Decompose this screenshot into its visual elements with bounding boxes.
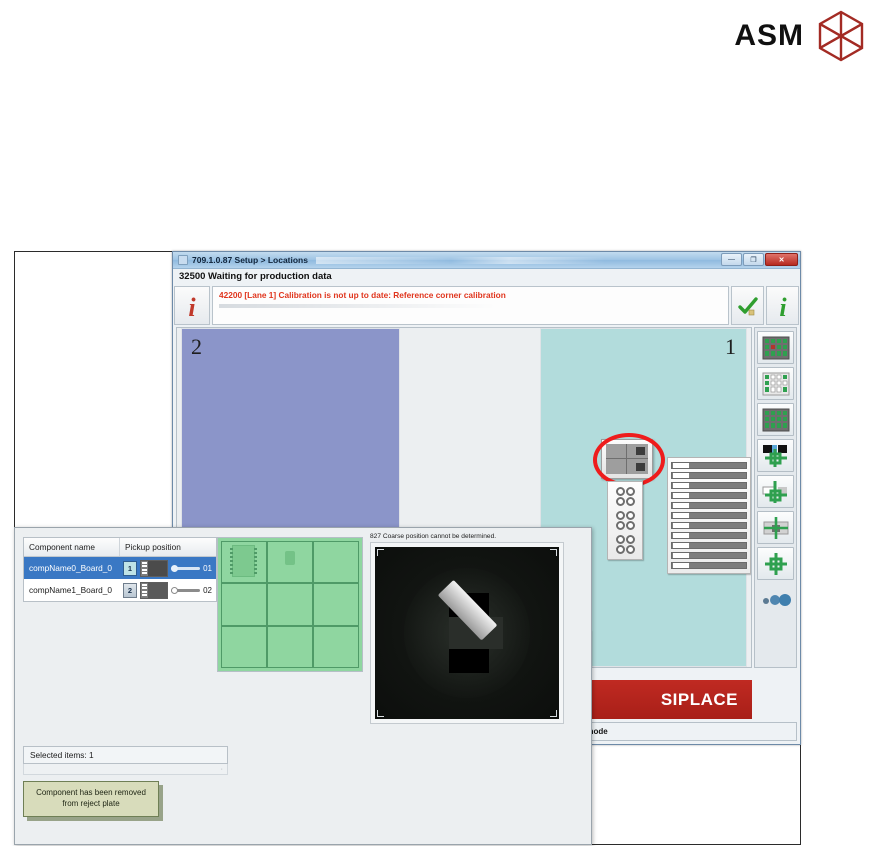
marker-corner-br [550,710,557,717]
feeder-bank-right[interactable] [667,457,751,574]
cell-component-name: compName1_Board_0 [24,585,120,595]
position-line [171,589,200,592]
svg-text:i: i [779,293,787,320]
column-header-component-name[interactable]: Component name [24,538,120,556]
grid-cell[interactable] [314,584,358,624]
alert-message-box: 42200 [Lane 1] Calibration is not up to … [212,286,729,325]
position-knob [171,587,178,594]
component-table-icon [762,336,790,360]
window-titlebar[interactable]: 709.1.0.87 Setup > Locations — ❐ ✕ [173,252,800,269]
component-chip [232,545,255,576]
alert-message-text: 42200 [Lane 1] Calibration is not up to … [219,290,722,300]
nozzle-rack-right[interactable] [607,481,643,560]
feeder-slot [671,562,747,569]
asm-brand-logo: ASM [734,10,866,62]
table-row[interactable]: compName0_Board_0 1 01 [24,557,216,579]
camera-image [375,547,559,719]
nozzle-dots-icon [760,592,792,608]
image-caption: 827 Coarse position cannot be determined… [370,533,570,540]
toolbar-head-left-button[interactable] [757,439,794,472]
grid-cell[interactable] [222,584,266,624]
toolbar-head-right-button[interactable] [757,475,794,508]
toolbar-nozzle-table-button[interactable] [757,403,794,436]
green-check-icon [737,296,759,316]
reject-chip [636,447,645,455]
toolbar-component-table-button[interactable] [757,331,794,364]
position-label: 02 [203,586,212,595]
reject-chip [636,463,645,471]
grid-cell[interactable] [314,542,358,582]
close-button[interactable]: ✕ [765,253,798,266]
component-table[interactable]: Component name Pickup position compName0… [23,537,217,602]
pickup-badge: 1 [123,561,137,576]
reject-plate-grid [606,444,648,474]
crosshair-head-left-icon [761,443,791,469]
pickup-badge: 2 [123,583,137,598]
cell-pickup-position: 2 02 [120,582,216,599]
zone-left-label: 2 [191,334,202,360]
column-header-pickup-position[interactable]: Pickup position [120,538,216,556]
toolbar-crosshair-button[interactable] [757,547,794,580]
alert-info-button[interactable]: i [766,286,799,325]
window-controls[interactable]: — ❐ ✕ [721,253,798,266]
svg-text:i: i [188,293,196,320]
reject-grid [221,541,359,668]
feeder-slot [671,512,747,519]
reject-plate-grid-panel[interactable] [217,537,363,672]
crosshair-icon [761,551,791,577]
feeder-slot [671,472,747,479]
production-status-line: 32500 Waiting for production data [173,269,800,286]
feeder-slot [671,462,747,469]
reject-plate[interactable] [601,439,653,479]
grid-cell[interactable] [314,627,358,667]
toast-notification: Component has been removed from reject p… [23,781,159,817]
alert-info-icon-box[interactable]: i [174,286,210,325]
zone-right-label: 1 [725,334,736,360]
grid-cell[interactable] [222,542,266,582]
marker-corner-tl [377,549,384,556]
feeder-table-icon [762,372,790,396]
maximize-button[interactable]: ❐ [743,253,764,266]
selected-items-underbar: · [23,764,228,775]
position-label: 01 [203,564,212,573]
feeder-slot [671,482,747,489]
grid-cell[interactable] [222,627,266,667]
table-row[interactable]: compName1_Board_0 2 02 [24,579,216,601]
image-box[interactable] [370,542,564,724]
feeder-slot [671,542,747,549]
nozzle-table-icon [762,408,790,432]
feeder-slot [671,502,747,509]
screenshot-page: ASM 709.1.0.87 Setup > Locations — ❐ ✕ [0,0,880,846]
feeder-icon [140,582,168,599]
minimize-button[interactable]: — [721,253,742,266]
position-track: 01 [171,564,216,573]
selected-items-bar: Selected items: 1 [23,746,228,764]
info-i-icon: i [182,292,202,320]
right-toolbar[interactable] [754,327,797,668]
toolbar-feeder-table-button[interactable] [757,367,794,400]
feeder-slot [671,552,747,559]
grid-cell[interactable] [268,542,312,582]
app-icon [178,255,188,265]
siplace-logo-text: SIPLACE [661,690,738,710]
green-info-icon: i [772,292,794,320]
scroll-tick: · [221,766,223,773]
toolbar-head-grid-button[interactable] [757,511,794,544]
alert-message-secondary [219,304,722,308]
marker-corner-tr [550,549,557,556]
cell-pickup-position: 1 01 [120,560,216,577]
grid-cell[interactable] [268,584,312,624]
nozzle-group [616,535,635,554]
position-track: 02 [171,586,216,595]
window-title: 709.1.0.87 Setup > Locations [192,255,308,265]
feeder-slot [671,522,747,529]
grid-cell[interactable] [268,627,312,667]
position-line [171,567,200,570]
nozzle-group [616,511,635,530]
toolbar-nozzle-dots-button[interactable] [757,583,794,616]
grid-marker [285,551,296,565]
toast-message: Component has been removed from reject p… [24,788,158,810]
table-header: Component name Pickup position [24,538,216,557]
camera-image-panel: 827 Coarse position cannot be determined… [370,533,570,729]
crosshair-head-right-icon [761,479,791,505]
feeder-icon [140,560,168,577]
position-knob [171,565,178,572]
nozzle-group [616,487,635,506]
feeder-slot [671,532,747,539]
alert-bar: i 42200 [Lane 1] Calibration is not up t… [173,286,800,325]
asm-hexagon-logo-icon [816,10,866,62]
brand-name: ASM [734,19,804,53]
feeder-slot [671,492,747,499]
crosshair-grid-icon [761,515,791,541]
alert-confirm-button[interactable] [731,286,764,325]
marker-corner-bl [377,710,384,717]
cell-component-name: compName0_Board_0 [24,563,120,573]
